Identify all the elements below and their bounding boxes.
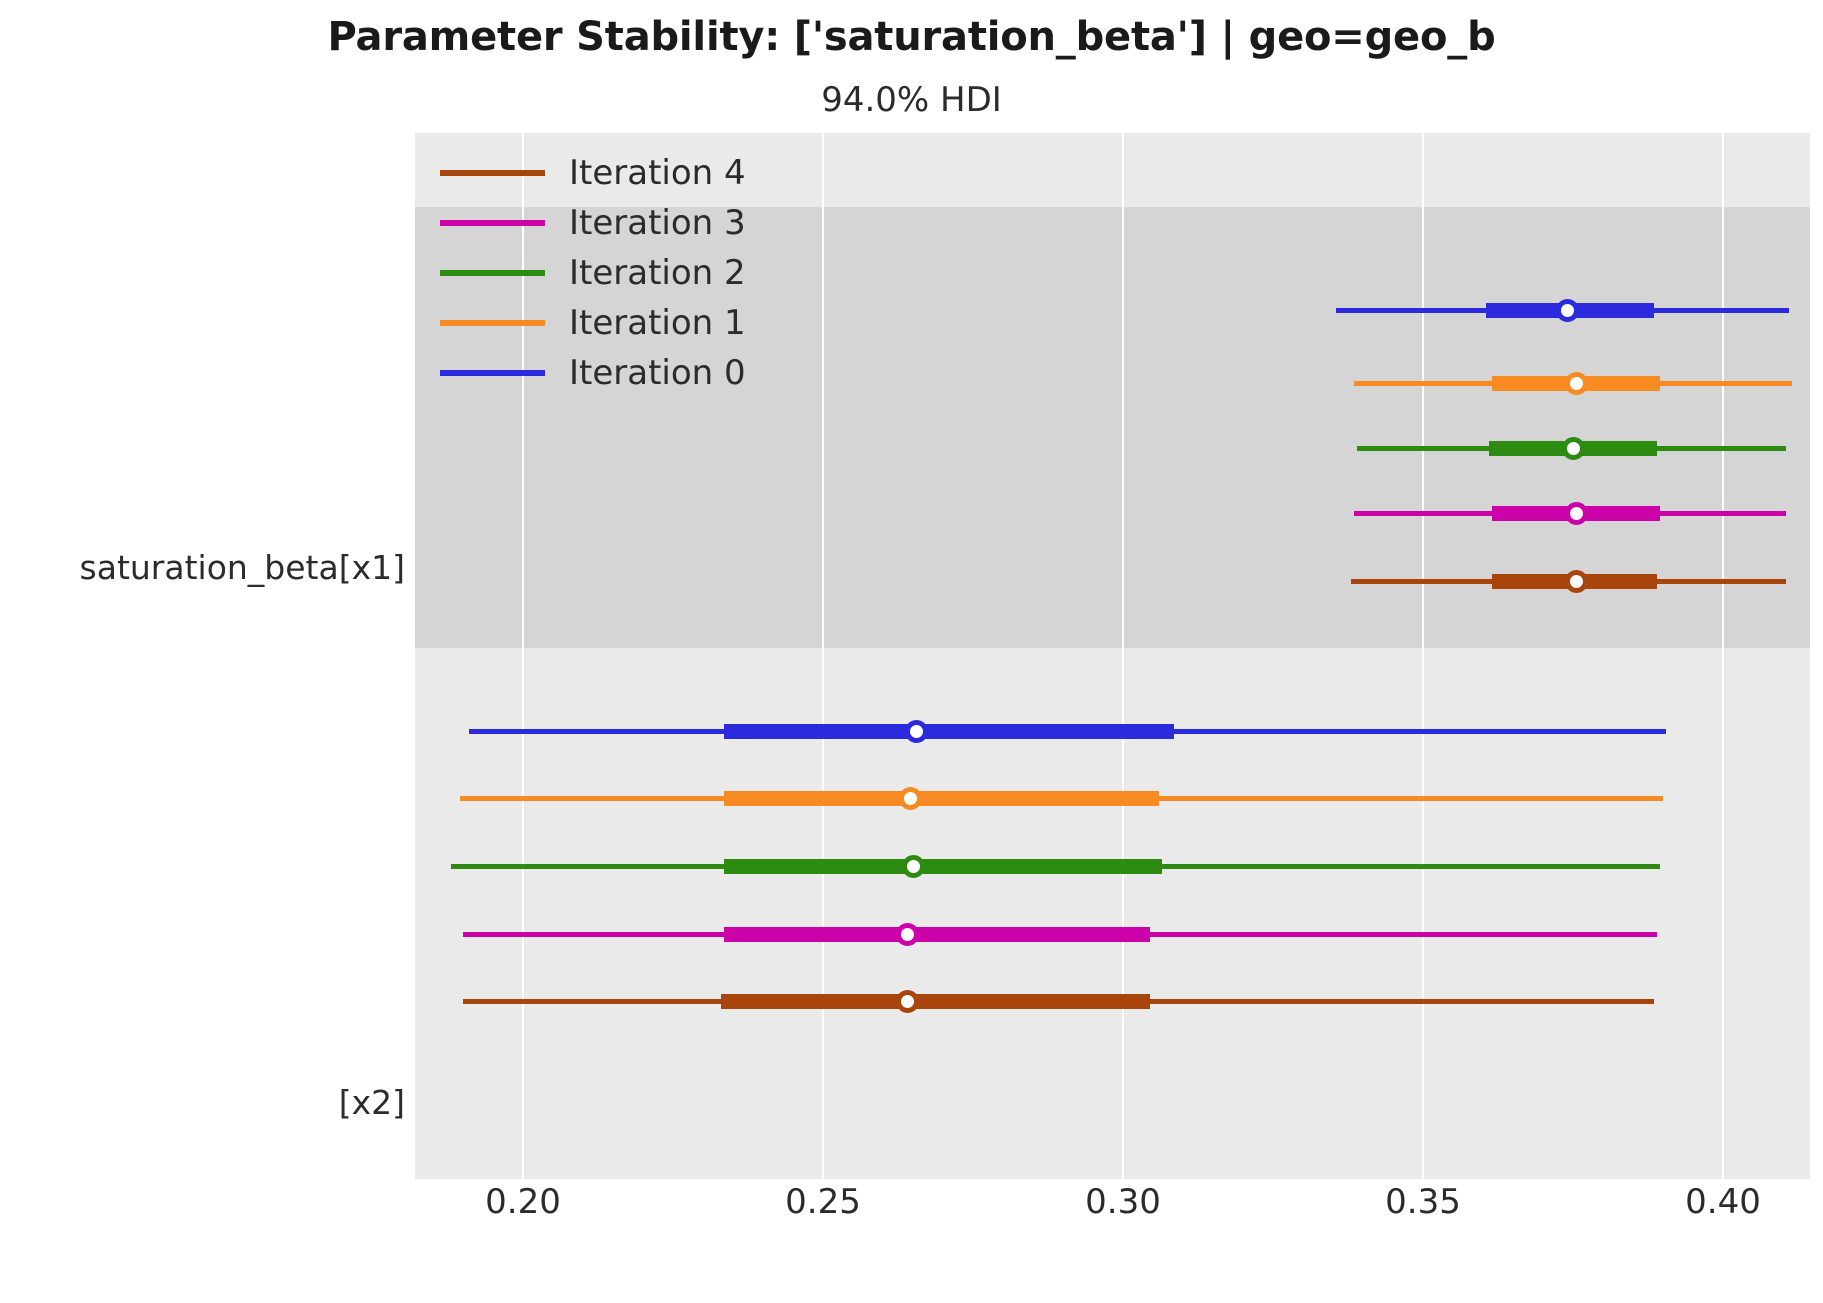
page-title: Parameter Stability: ['saturation_beta']… bbox=[0, 14, 1823, 60]
point-estimate-marker bbox=[899, 787, 922, 810]
legend-item-label: Iteration 1 bbox=[569, 303, 746, 343]
x-axis-tick-labels: 0.200.250.300.350.40 bbox=[415, 1182, 1810, 1252]
legend-item-label: Iteration 2 bbox=[569, 253, 746, 293]
legend-item-iteration-4[interactable]: Iteration 4 bbox=[440, 148, 760, 198]
legend-item-iteration-1[interactable]: Iteration 1 bbox=[440, 298, 760, 348]
y-axis-tick-label: saturation_beta[x1] bbox=[80, 548, 405, 587]
x-axis-tick-label: 0.35 bbox=[1385, 1182, 1461, 1222]
point-estimate-marker bbox=[1565, 502, 1588, 525]
forest-interval-row bbox=[415, 981, 1810, 1021]
legend-line-swatch-icon bbox=[440, 370, 545, 376]
forest-interval-row bbox=[415, 561, 1810, 601]
x-axis-tick-label: 0.40 bbox=[1685, 1182, 1761, 1222]
legend-item-iteration-3[interactable]: Iteration 3 bbox=[440, 198, 760, 248]
point-estimate-marker bbox=[1565, 372, 1588, 395]
legend-item-iteration-0[interactable]: Iteration 0 bbox=[440, 348, 760, 398]
legend-line-swatch-icon bbox=[440, 170, 545, 176]
point-estimate-marker bbox=[1556, 299, 1579, 322]
iqr-interval-bar bbox=[724, 791, 1159, 806]
forest-interval-row bbox=[415, 846, 1810, 886]
legend-line-swatch-icon bbox=[440, 220, 545, 226]
iqr-interval-bar bbox=[724, 927, 1150, 942]
legend-item-label: Iteration 4 bbox=[569, 153, 746, 193]
forest-interval-row bbox=[415, 493, 1810, 533]
point-estimate-marker bbox=[902, 855, 925, 878]
y-axis-tick-labels: saturation_beta[x1][x2] bbox=[0, 133, 405, 1179]
x-axis-tick-label: 0.30 bbox=[1085, 1182, 1161, 1222]
forest-interval-row bbox=[415, 428, 1810, 468]
forest-interval-row bbox=[415, 711, 1810, 751]
point-estimate-marker bbox=[905, 720, 928, 743]
forest-interval-row bbox=[415, 914, 1810, 954]
x-axis-tick-label: 0.25 bbox=[785, 1182, 861, 1222]
point-estimate-marker bbox=[896, 990, 919, 1013]
iqr-interval-bar bbox=[724, 859, 1162, 874]
legend-item-label: Iteration 3 bbox=[569, 203, 746, 243]
legend: Iteration 4Iteration 3Iteration 2Iterati… bbox=[440, 148, 760, 398]
legend-item-label: Iteration 0 bbox=[569, 353, 746, 393]
point-estimate-marker bbox=[1565, 570, 1588, 593]
y-axis-tick-label: [x2] bbox=[339, 1083, 405, 1122]
forest-plot-figure: Parameter Stability: ['saturation_beta']… bbox=[0, 0, 1823, 1303]
legend-line-swatch-icon bbox=[440, 320, 545, 326]
legend-line-swatch-icon bbox=[440, 270, 545, 276]
point-estimate-marker bbox=[896, 923, 919, 946]
legend-item-iteration-2[interactable]: Iteration 2 bbox=[440, 248, 760, 298]
iqr-interval-bar bbox=[724, 724, 1174, 739]
forest-interval-row bbox=[415, 778, 1810, 818]
x-axis-tick-label: 0.20 bbox=[485, 1182, 561, 1222]
point-estimate-marker bbox=[1562, 437, 1585, 460]
chart-subtitle: 94.0% HDI bbox=[0, 80, 1823, 120]
iqr-interval-bar bbox=[721, 994, 1150, 1009]
